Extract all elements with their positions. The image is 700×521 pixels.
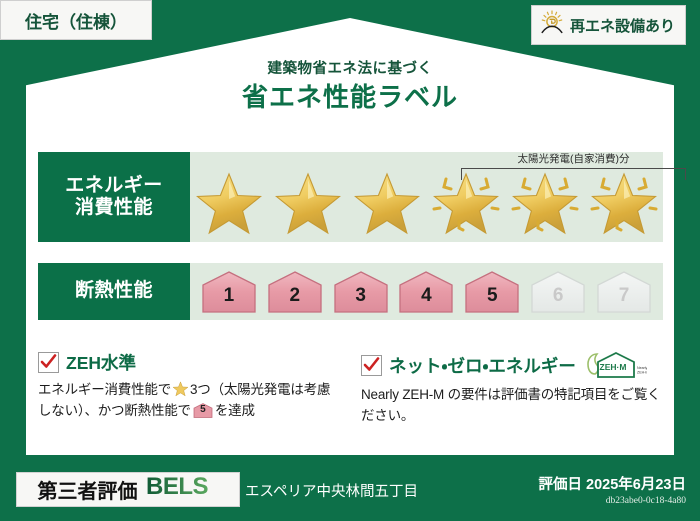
solar-annotation-label: 太陽光発電(自家消費)分 xyxy=(461,154,686,165)
criterion-zeh-standard: ZEH水準 エネルギー消費性能で3つ（太陽光発電は考慮しない）、かつ断熱性能で5… xyxy=(38,350,343,446)
building-type-tag: 住宅（住棟） xyxy=(0,0,152,40)
energy-row-label: エネルギー 消費性能 xyxy=(38,152,190,242)
star-cell xyxy=(348,152,427,242)
criteria-section: ZEH水準 エネルギー消費性能で3つ（太陽光発電は考慮しない）、かつ断熱性能で5… xyxy=(38,350,666,446)
solar-annotation-bracket xyxy=(461,168,686,180)
energy-row-label-line2: 消費性能 xyxy=(65,197,163,219)
renewable-badge-label: 再エネ設備あり xyxy=(570,15,675,36)
svg-text:Nearly: Nearly xyxy=(637,366,647,370)
energy-performance-row: エネルギー 消費性能 xyxy=(38,152,663,242)
insulation-chip-label: 5 xyxy=(487,286,498,314)
star-cell xyxy=(190,152,269,242)
zeh-standard-description: エネルギー消費性能で3つ（太陽光発電は考慮しない）、かつ断熱性能で5を達成 xyxy=(38,380,343,421)
insulation-chip-label: 3 xyxy=(355,286,366,314)
insulation-chip-label: 7 xyxy=(619,286,630,314)
insulation-chip: 6 xyxy=(529,270,587,314)
criterion-header: ZEH水準 xyxy=(38,350,343,375)
zeh-m-house-logo: ZEH·M Nearly ZEH-M xyxy=(585,350,647,380)
third-party-evaluation-label: 第三者評価 xyxy=(38,475,138,504)
insulation-chip-inline-icon: 5 xyxy=(193,402,213,419)
zeh-standard-title: ZEH水準 xyxy=(66,350,136,375)
svg-text:ZEH-M: ZEH-M xyxy=(637,371,647,375)
net-zero-energy-checkbox[interactable] xyxy=(361,355,382,376)
insulation-chip: 5 xyxy=(463,270,521,314)
star-icon xyxy=(272,166,344,238)
star-icon xyxy=(193,166,265,238)
insulation-rating-panel: 1 2 3 4 5 xyxy=(190,263,663,320)
insulation-chip-label: 6 xyxy=(553,286,564,314)
label-heading: 建築物省エネ法に基づく 省エネ性能ラベル xyxy=(0,62,700,112)
energy-row-label-line1: エネルギー xyxy=(65,175,163,197)
star-icon xyxy=(172,380,189,397)
energy-performance-label: 住宅（住棟） 再エネ設備あり 建築物省エネ法に基づく xyxy=(0,0,700,521)
insulation-chip-group: 1 2 3 4 5 xyxy=(190,263,663,320)
solar-generation-annotation: 太陽光発電(自家消費)分 xyxy=(461,154,686,184)
insulation-row-label: 断熱性能 xyxy=(38,263,190,320)
criterion-net-zero-energy: ネット・ゼロ・エネルギー ZEH·M Nearly ZEH-M Nearly Z… xyxy=(361,350,666,446)
insulation-chip: 3 xyxy=(332,270,390,314)
insulation-chip: 4 xyxy=(397,270,455,314)
insulation-chip: 7 xyxy=(595,270,653,314)
heading-title: 省エネ性能ラベル xyxy=(0,83,700,112)
record-id: db23abe0-0c18-4a80 xyxy=(539,496,686,506)
check-icon xyxy=(363,356,380,373)
bels-certification-mark: 第三者評価 BELS xyxy=(16,472,240,507)
insulation-chip-label: 1 xyxy=(224,286,235,314)
building-type-label: 住宅（住棟） xyxy=(25,8,127,33)
insulation-chip: 1 xyxy=(200,270,258,314)
svg-text:ZEH·M: ZEH·M xyxy=(599,362,626,372)
insulation-chip-label: 2 xyxy=(289,286,300,314)
insulation-performance-row: 断熱性能 1 2 xyxy=(38,263,663,320)
desc-part-text: エネルギー消費性能で xyxy=(38,382,171,397)
criterion-header: ネット・ゼロ・エネルギー ZEH·M Nearly ZEH-M xyxy=(361,350,666,380)
net-zero-energy-description: Nearly ZEH-M の要件は評価書の特記項目をご覧ください。 xyxy=(361,385,666,426)
check-icon xyxy=(40,353,57,370)
sun-renewable-icon xyxy=(538,9,566,42)
svg-text:BELS: BELS xyxy=(146,473,209,500)
insulation-chip-label: 4 xyxy=(421,286,432,314)
star-icon xyxy=(351,166,423,238)
net-zero-energy-title: ネット・ゼロ・エネルギー xyxy=(389,353,576,378)
desc-part-text: を達成 xyxy=(215,403,255,418)
renewable-energy-badge: 再エネ設備あり xyxy=(531,5,686,45)
property-name: エスペリア中央林間五丁目 xyxy=(245,480,418,501)
inline-chip-label: 5 xyxy=(193,402,213,419)
star-cell xyxy=(269,152,348,242)
evaluation-date: 評価日 2025年6月23日 xyxy=(539,473,686,494)
label-footer: 第三者評価 BELS エスペリア中央林間五丁目 評価日 2025年6月23日 d… xyxy=(0,463,700,521)
insulation-row-label-line1: 断熱性能 xyxy=(75,280,153,302)
evaluation-date-block: 評価日 2025年6月23日 db23abe0-0c18-4a80 xyxy=(539,473,686,506)
energy-rating-panel: 太陽光発電(自家消費)分 xyxy=(190,152,663,242)
bels-logo-text: BELS xyxy=(145,472,219,507)
zeh-standard-checkbox[interactable] xyxy=(38,352,59,373)
heading-subtitle: 建築物省エネ法に基づく xyxy=(0,62,700,78)
insulation-chip: 2 xyxy=(266,270,324,314)
